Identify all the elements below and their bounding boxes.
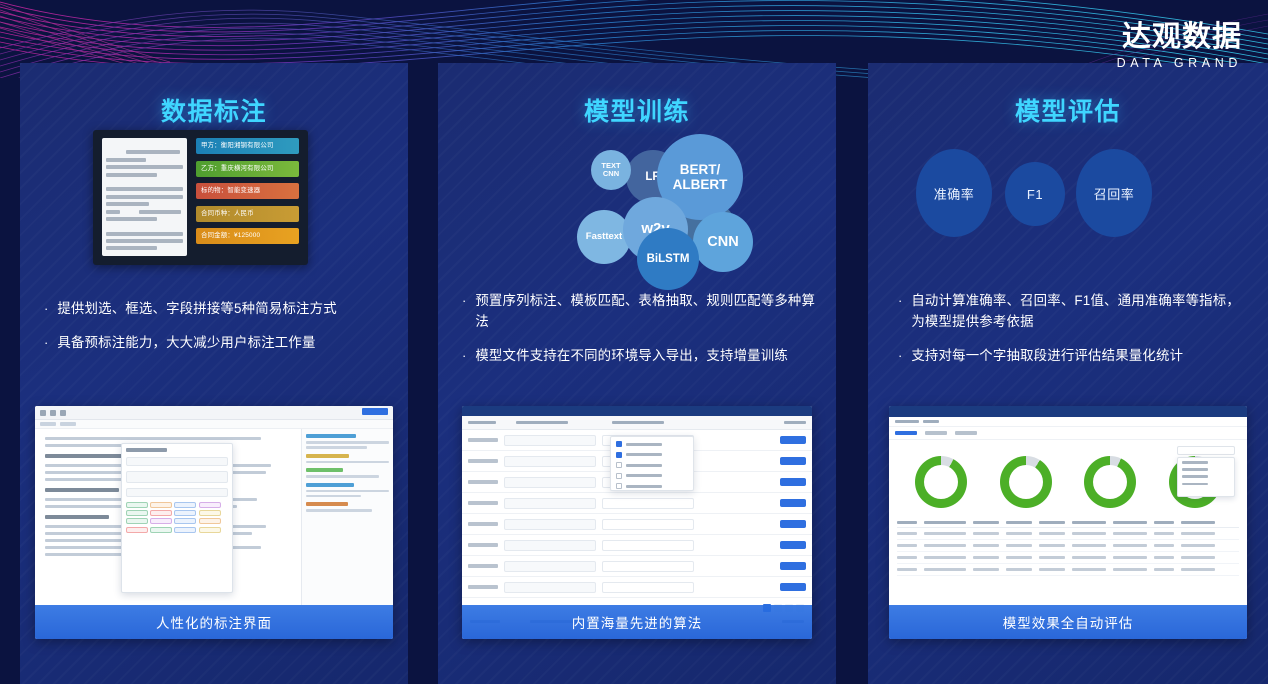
donut-label <box>1093 465 1127 499</box>
breadcrumb <box>889 417 1247 427</box>
annotation-tag: 乙方：重庆横河有限公司 <box>196 161 299 177</box>
checkbox-icon <box>616 473 622 479</box>
brand-name-en: DATA GRAND <box>1117 55 1242 73</box>
bullet-marker-icon: · <box>898 345 902 366</box>
annotation-tag: 甲方：衡阳湘钢有限公司 <box>196 138 299 154</box>
dashboard-select-dropdown <box>1177 457 1235 497</box>
metric-circle-precision: 准确率 <box>916 149 992 237</box>
dropdown-option <box>1182 468 1208 471</box>
annotation-preview: 甲方：衡阳湘钢有限公司 乙方：重庆横河有限公司 标的物：智能变速器 合同币种：人… <box>93 130 308 265</box>
table-header-row <box>897 518 1239 528</box>
bullet-item: · 预置序列标注、模板匹配、表格抽取、规则匹配等多种算法 <box>462 290 818 332</box>
screenshot-sidebar-pane <box>301 429 393 605</box>
algorithm-bubble-cluster: TEXT CNN LR BERT/ ALBERT Fasttext w2v CN… <box>438 128 836 278</box>
screenshot-caption: 内置海量先进的算法 <box>462 605 812 639</box>
bullet-item: · 支持对每一个字抽取段进行评估结果量化统计 <box>898 345 1250 366</box>
bullet-item: · 自动计算准确率、召回率、F1值、通用准确率等指标，为模型提供参考依据 <box>898 290 1250 332</box>
evaluation-table <box>889 514 1247 576</box>
screenshot-annotation-ui: 人性化的标注界面 <box>35 406 393 639</box>
dropdown-option <box>616 483 688 489</box>
dropdown-option <box>616 441 688 447</box>
checkbox-icon <box>616 462 622 468</box>
dropdown-option <box>1182 483 1208 486</box>
dashboard-select <box>1177 446 1235 455</box>
sidebar-section <box>306 434 389 449</box>
panel-model-training: 模型训练 TEXT CNN LR BERT/ ALBERT Fasttext w… <box>438 63 836 684</box>
table-row <box>462 577 812 598</box>
bubble-cnn: CNN <box>693 212 753 272</box>
screenshot-titlebar <box>462 406 812 416</box>
table-row <box>462 493 812 514</box>
panel-row: 数据标注 <box>0 63 1268 684</box>
screenshot-algorithm-table: 内置海量先进的算法 <box>462 406 812 639</box>
bullet-list-evaluation: · 自动计算准确率、召回率、F1值、通用准确率等指标，为模型提供参考依据 · 支… <box>868 290 1268 366</box>
donut-chart-row <box>889 440 1247 514</box>
hero-graphic-algorithms: TEXT CNN LR BERT/ ALBERT Fasttext w2v CN… <box>438 128 836 278</box>
checkbox-icon <box>616 441 622 447</box>
bullet-item: · 提供划选、框选、字段拼接等5种简易标注方式 <box>44 298 390 319</box>
dropdown-option <box>1182 461 1208 464</box>
bullet-text: 具备预标注能力，大大减少用户标注工作量 <box>57 332 315 353</box>
annotation-tag: 标的物：智能变速器 <box>196 183 299 199</box>
toolbar-icon <box>40 410 46 416</box>
annotation-document-thumb <box>102 138 187 256</box>
table-row <box>897 540 1239 552</box>
screenshot-toolbar <box>35 406 393 420</box>
screenshot-tag-picker-modal <box>121 443 233 593</box>
table-row <box>462 535 812 556</box>
tab-inactive <box>925 431 947 434</box>
bullet-marker-icon: · <box>462 290 466 332</box>
screenshot-subbar <box>35 420 393 429</box>
brand-name-cn: 达观数据 <box>1117 22 1242 53</box>
hero-graphic-annotation: 甲方：衡阳湘钢有限公司 乙方：重庆横河有限公司 标的物：智能变速器 合同币种：人… <box>20 128 408 278</box>
subbar-chip <box>60 422 76 426</box>
bullet-marker-icon: · <box>44 332 48 353</box>
bullet-text: 预置序列标注、模板匹配、表格抽取、规则匹配等多种算法 <box>475 290 818 332</box>
brand-logo: 达观数据 DATA GRAND <box>1117 22 1242 72</box>
subbar-chip <box>40 422 56 426</box>
screenshot-primary-button <box>362 408 388 415</box>
bubble-bilstm: BiLSTM <box>637 228 699 290</box>
metric-circle-recall: 召回率 <box>1076 149 1152 237</box>
toolbar-icon <box>50 410 56 416</box>
panel-title-model-evaluation: 模型评估 <box>868 92 1268 128</box>
screenshot-body <box>35 429 393 605</box>
screenshot-caption: 模型效果全自动评估 <box>889 605 1247 639</box>
screenshot-evaluation-dashboard: 模型效果全自动评估 <box>889 406 1247 639</box>
dropdown-option <box>616 473 688 479</box>
bullet-list-annotation: · 提供划选、框选、字段拼接等5种简易标注方式 · 具备预标注能力，大大减少用户… <box>20 298 408 353</box>
bullet-item: · 模型文件支持在不同的环境导入导出，支持增量训练 <box>462 345 818 366</box>
bullet-marker-icon: · <box>898 290 902 332</box>
donut-chart <box>1084 456 1136 508</box>
hero-graphic-metrics: 准确率 F1 召回率 <box>868 128 1268 278</box>
table-filter-dropdown <box>610 436 694 491</box>
dropdown-option <box>616 452 688 458</box>
panel-title-data-annotation: 数据标注 <box>20 92 408 128</box>
sidebar-section <box>306 454 389 464</box>
donut-label <box>924 465 958 499</box>
dropdown-option <box>1182 475 1208 478</box>
annotation-tag: 合同币种：人民币 <box>196 206 299 222</box>
table-row <box>897 564 1239 576</box>
tab-active <box>895 431 917 434</box>
sidebar-section <box>306 483 389 498</box>
donut-label <box>1009 465 1043 499</box>
table-row <box>462 556 812 577</box>
dashboard-tabs <box>889 427 1247 440</box>
bullet-item: · 具备预标注能力，大大减少用户标注工作量 <box>44 332 390 353</box>
screenshot-tag-chips <box>126 502 228 533</box>
table-row <box>897 528 1239 540</box>
checkbox-icon <box>616 483 622 489</box>
screenshot-titlebar <box>889 406 1247 417</box>
metric-circle-group: 准确率 F1 召回率 <box>868 128 1268 278</box>
dropdown-option <box>616 462 688 468</box>
sidebar-section <box>306 468 389 478</box>
donut-chart <box>915 456 967 508</box>
metric-circle-f1: F1 <box>1005 162 1065 226</box>
sidebar-section <box>306 502 389 512</box>
bullet-list-training: · 预置序列标注、模板匹配、表格抽取、规则匹配等多种算法 · 模型文件支持在不同… <box>438 290 836 366</box>
bullet-text: 支持对每一个字抽取段进行评估结果量化统计 <box>911 345 1183 366</box>
bullet-marker-icon: · <box>44 298 48 319</box>
panel-model-evaluation: 模型评估 准确率 F1 召回率 · 自动计算准确率、召回率、F1值、通用准确率等… <box>868 63 1268 684</box>
donut-chart <box>1000 456 1052 508</box>
checkbox-icon <box>616 452 622 458</box>
bullet-text: 模型文件支持在不同的环境导入导出，支持增量训练 <box>475 345 788 366</box>
screenshot-caption: 人性化的标注界面 <box>35 605 393 639</box>
panel-title-model-training: 模型训练 <box>438 92 836 128</box>
bullet-marker-icon: · <box>462 345 466 366</box>
tab-inactive <box>955 431 977 434</box>
bubble-textcnn: TEXT CNN <box>591 150 631 190</box>
annotation-tag-list: 甲方：衡阳湘钢有限公司 乙方：重庆横河有限公司 标的物：智能变速器 合同币种：人… <box>196 138 299 244</box>
screenshot-document-pane <box>35 429 301 605</box>
table-header-row <box>462 416 812 430</box>
table-row <box>462 514 812 535</box>
toolbar-icon <box>60 410 66 416</box>
bullet-text: 提供划选、框选、字段拼接等5种简易标注方式 <box>57 298 336 319</box>
table-row <box>897 552 1239 564</box>
panel-data-annotation: 数据标注 <box>20 63 408 684</box>
annotation-tag: 合同金额：¥125000 <box>196 228 299 244</box>
bullet-text: 自动计算准确率、召回率、F1值、通用准确率等指标，为模型提供参考依据 <box>911 290 1250 332</box>
